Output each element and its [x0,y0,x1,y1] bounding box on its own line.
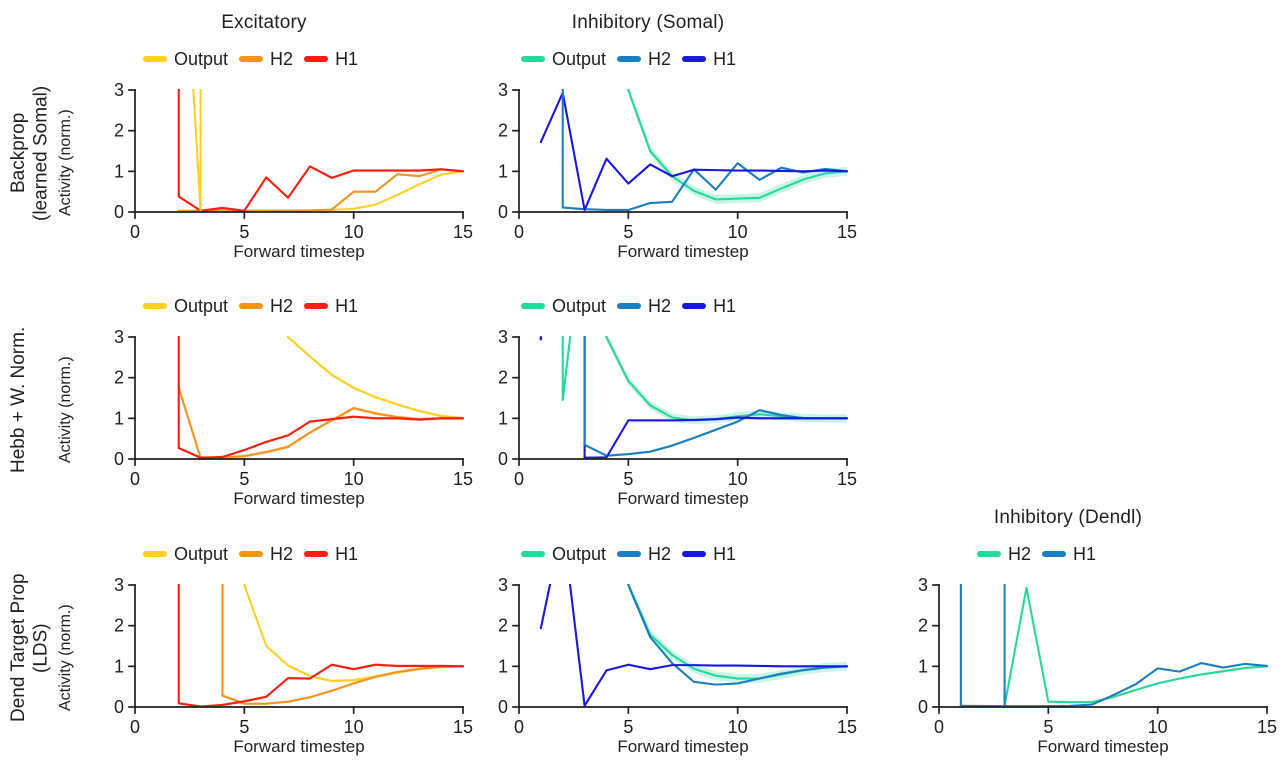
y-tick-label: 2 [114,368,124,388]
series-line-h1 [179,166,463,210]
x-tick-label: 5 [239,222,249,242]
legend-swatch-h2 [239,56,263,62]
y-axis-label-dtp-exc: Activity (norm.) [57,581,75,711]
y-tick-label: 3 [918,575,928,595]
x-tick-label: 15 [453,717,473,737]
y-tick-label: 3 [498,327,508,347]
x-tick-label: 5 [239,717,249,737]
x-tick-label: 10 [728,717,748,737]
x-tick-label: 10 [1148,717,1168,737]
x-tick-label: 10 [728,222,748,242]
axis-spine [519,585,847,707]
legend-swatch-h2 [239,551,263,557]
y-tick-label: 2 [114,616,124,636]
x-tick-label: 0 [130,222,140,242]
legend-swatch-h1 [304,551,328,557]
x-tick-label: 0 [934,717,944,737]
x-tick-label: 0 [130,717,140,737]
legend-swatch-h2 [977,551,1001,557]
y-tick-label: 1 [498,161,508,181]
x-tick-label: 10 [728,469,748,489]
y-tick-label: 2 [498,121,508,141]
y-tick-label: 1 [498,656,508,676]
chart-hebb-exc: 0123051015 [89,329,477,497]
x-axis-label-hebb-exc: Forward timestep [135,489,463,509]
x-tick-label: 10 [344,469,364,489]
chart-dtp-inh-dendl: 0123051015 [893,577,1281,745]
x-tick-label: 0 [514,717,524,737]
legend-label-h1: H1 [713,297,736,315]
series-band-h1 [179,415,463,459]
legend-swatch-h1 [304,303,328,309]
x-tick-label: 5 [623,717,633,737]
x-tick-label: 15 [837,469,857,489]
axis-spine [135,585,463,707]
legend-item-h1[interactable]: H1 [682,545,736,563]
y-tick-label: 0 [498,202,508,222]
legend-swatch-h1 [682,56,706,62]
legend-item-output[interactable]: Output [143,297,228,315]
legend-swatch-output [521,56,545,62]
x-axis-label-dtp-inh-somal: Forward timestep [519,737,847,757]
y-tick-label: 0 [498,697,508,717]
legend-hebb-inh-somal: OutputH2H1 [521,297,736,315]
y-tick-label: 1 [918,656,928,676]
legend-label-output: Output [552,545,606,563]
column-title-1: Inhibitory (Somal) [449,12,847,34]
legend-swatch-output [521,303,545,309]
legend-dtp-inh-dendl: H2H1 [977,545,1096,563]
legend-swatch-h1 [682,303,706,309]
axis-spine [519,90,847,212]
series-line-h2 [628,585,847,685]
legend-item-h1[interactable]: H1 [1042,545,1096,563]
figure-root: ExcitatoryInhibitory (Somal)Inhibitory (… [0,0,1283,780]
y-tick-label: 1 [114,161,124,181]
series-band-h2 [179,386,463,459]
legend-dtp-inh-somal: OutputH2H1 [521,545,736,563]
chart-bp-inh-somal: 0123051015 [473,82,861,250]
y-axis-label-hebb-exc: Activity (norm.) [57,333,75,463]
series-line-h1 [179,417,463,458]
legend-item-h1[interactable]: H1 [682,297,736,315]
legend-swatch-output [521,551,545,557]
series-band-output [288,335,463,420]
series-line-h2 [179,388,463,458]
legend-label-h1: H1 [335,50,358,68]
legend-swatch-h1 [682,551,706,557]
x-tick-label: 15 [837,222,857,242]
legend-label-output: Output [174,297,228,315]
legend-item-h2[interactable]: H2 [617,297,671,315]
legend-swatch-h1 [304,56,328,62]
x-tick-label: 5 [1043,717,1053,737]
legend-label-h2: H2 [270,545,293,563]
y-tick-label: 3 [498,80,508,100]
legend-bp-exc: OutputH2H1 [143,50,358,68]
legend-item-h1[interactable]: H1 [304,50,358,68]
legend-item-output[interactable]: Output [143,545,228,563]
x-tick-label: 15 [837,717,857,737]
legend-swatch-h1 [1042,551,1066,557]
legend-label-h1: H1 [335,545,358,563]
x-tick-label: 10 [344,717,364,737]
legend-item-h2[interactable]: H2 [239,50,293,68]
x-tick-label: 0 [130,469,140,489]
column-title-2: Inhibitory (Dendl) [869,507,1267,529]
chart-dtp-inh-somal: 0123051015 [473,577,861,745]
legend-item-h2[interactable]: H2 [977,545,1031,563]
y-tick-label: 1 [114,656,124,676]
legend-label-h1: H1 [713,545,736,563]
x-tick-label: 0 [514,222,524,242]
legend-label-output: Output [552,297,606,315]
series-line-h2 [179,169,463,210]
legend-dtp-exc: OutputH2H1 [143,545,358,563]
legend-item-output[interactable]: Output [143,50,228,68]
legend-label-h2: H2 [270,297,293,315]
x-tick-label: 5 [623,222,633,242]
legend-item-h1[interactable]: H1 [304,297,358,315]
y-tick-label: 2 [498,616,508,636]
x-tick-label: 15 [453,222,473,242]
legend-swatch-h2 [617,303,641,309]
y-tick-label: 1 [114,408,124,428]
legend-item-h2[interactable]: H2 [239,297,293,315]
y-tick-label: 2 [498,368,508,388]
y-tick-label: 0 [498,449,508,469]
x-axis-label-bp-exc: Forward timestep [135,242,463,262]
series-line-output [628,90,847,199]
legend-swatch-h2 [239,303,263,309]
y-tick-label: 0 [114,202,124,222]
x-tick-label: 5 [623,469,633,489]
x-tick-label: 15 [453,469,473,489]
legend-label-h2: H2 [648,50,671,68]
legend-item-h2[interactable]: H2 [617,545,671,563]
series-line-h2 [1005,588,1267,706]
legend-label-h1: H1 [713,50,736,68]
legend-item-h2[interactable]: H2 [239,545,293,563]
series-line-h1 [585,418,847,458]
x-tick-label: 0 [514,469,524,489]
legend-label-h1: H1 [335,297,358,315]
x-axis-label-hebb-inh-somal: Forward timestep [519,489,847,509]
chart-dtp-exc: 0123051015 [89,577,477,745]
legend-swatch-h2 [617,56,641,62]
x-axis-label-dtp-exc: Forward timestep [135,737,463,757]
y-axis-label-bp-exc: Activity (norm.) [57,86,75,216]
legend-bp-inh-somal: OutputH2H1 [521,50,736,68]
legend-swatch-output [143,56,167,62]
x-axis-label-bp-inh-somal: Forward timestep [519,242,847,262]
series-line-h1 [179,665,463,707]
x-tick-label: 15 [1257,717,1277,737]
legend-hebb-exc: OutputH2H1 [143,297,358,315]
legend-label-h2: H2 [1008,545,1031,563]
legend-label-output: Output [174,50,228,68]
y-tick-label: 3 [114,80,124,100]
legend-label-h1: H1 [1073,545,1096,563]
y-tick-label: 3 [114,327,124,347]
column-title-0: Excitatory [65,12,463,34]
x-tick-label: 5 [239,469,249,489]
chart-hebb-inh-somal: 0123051015 [473,329,861,497]
y-tick-label: 2 [114,121,124,141]
legend-item-h1[interactable]: H1 [682,50,736,68]
series-line-output [288,337,463,418]
legend-item-h1[interactable]: H1 [304,545,358,563]
legend-swatch-output [143,551,167,557]
y-tick-label: 3 [114,575,124,595]
legend-item-output[interactable]: Output [521,545,606,563]
legend-label-h2: H2 [648,545,671,563]
stray-marker-0 [540,336,542,340]
x-tick-label: 10 [344,222,364,242]
legend-swatch-h2 [617,551,641,557]
legend-label-output: Output [174,545,228,563]
axis-spine [135,90,463,212]
chart-bp-exc: 0123051015 [89,82,477,250]
y-tick-label: 0 [114,697,124,717]
legend-swatch-output [143,303,167,309]
y-tick-label: 3 [498,575,508,595]
y-tick-label: 2 [918,616,928,636]
axis-spine [939,585,1267,707]
x-axis-label-dtp-inh-dendl: Forward timestep [939,737,1267,757]
series-band-output [628,86,847,204]
legend-item-h2[interactable]: H2 [617,50,671,68]
legend-label-h2: H2 [648,297,671,315]
legend-label-h2: H2 [270,50,293,68]
y-tick-label: 0 [918,697,928,717]
y-tick-label: 0 [114,449,124,469]
y-tick-label: 1 [498,408,508,428]
legend-item-output[interactable]: Output [521,297,606,315]
legend-item-output[interactable]: Output [521,50,606,68]
legend-label-output: Output [552,50,606,68]
